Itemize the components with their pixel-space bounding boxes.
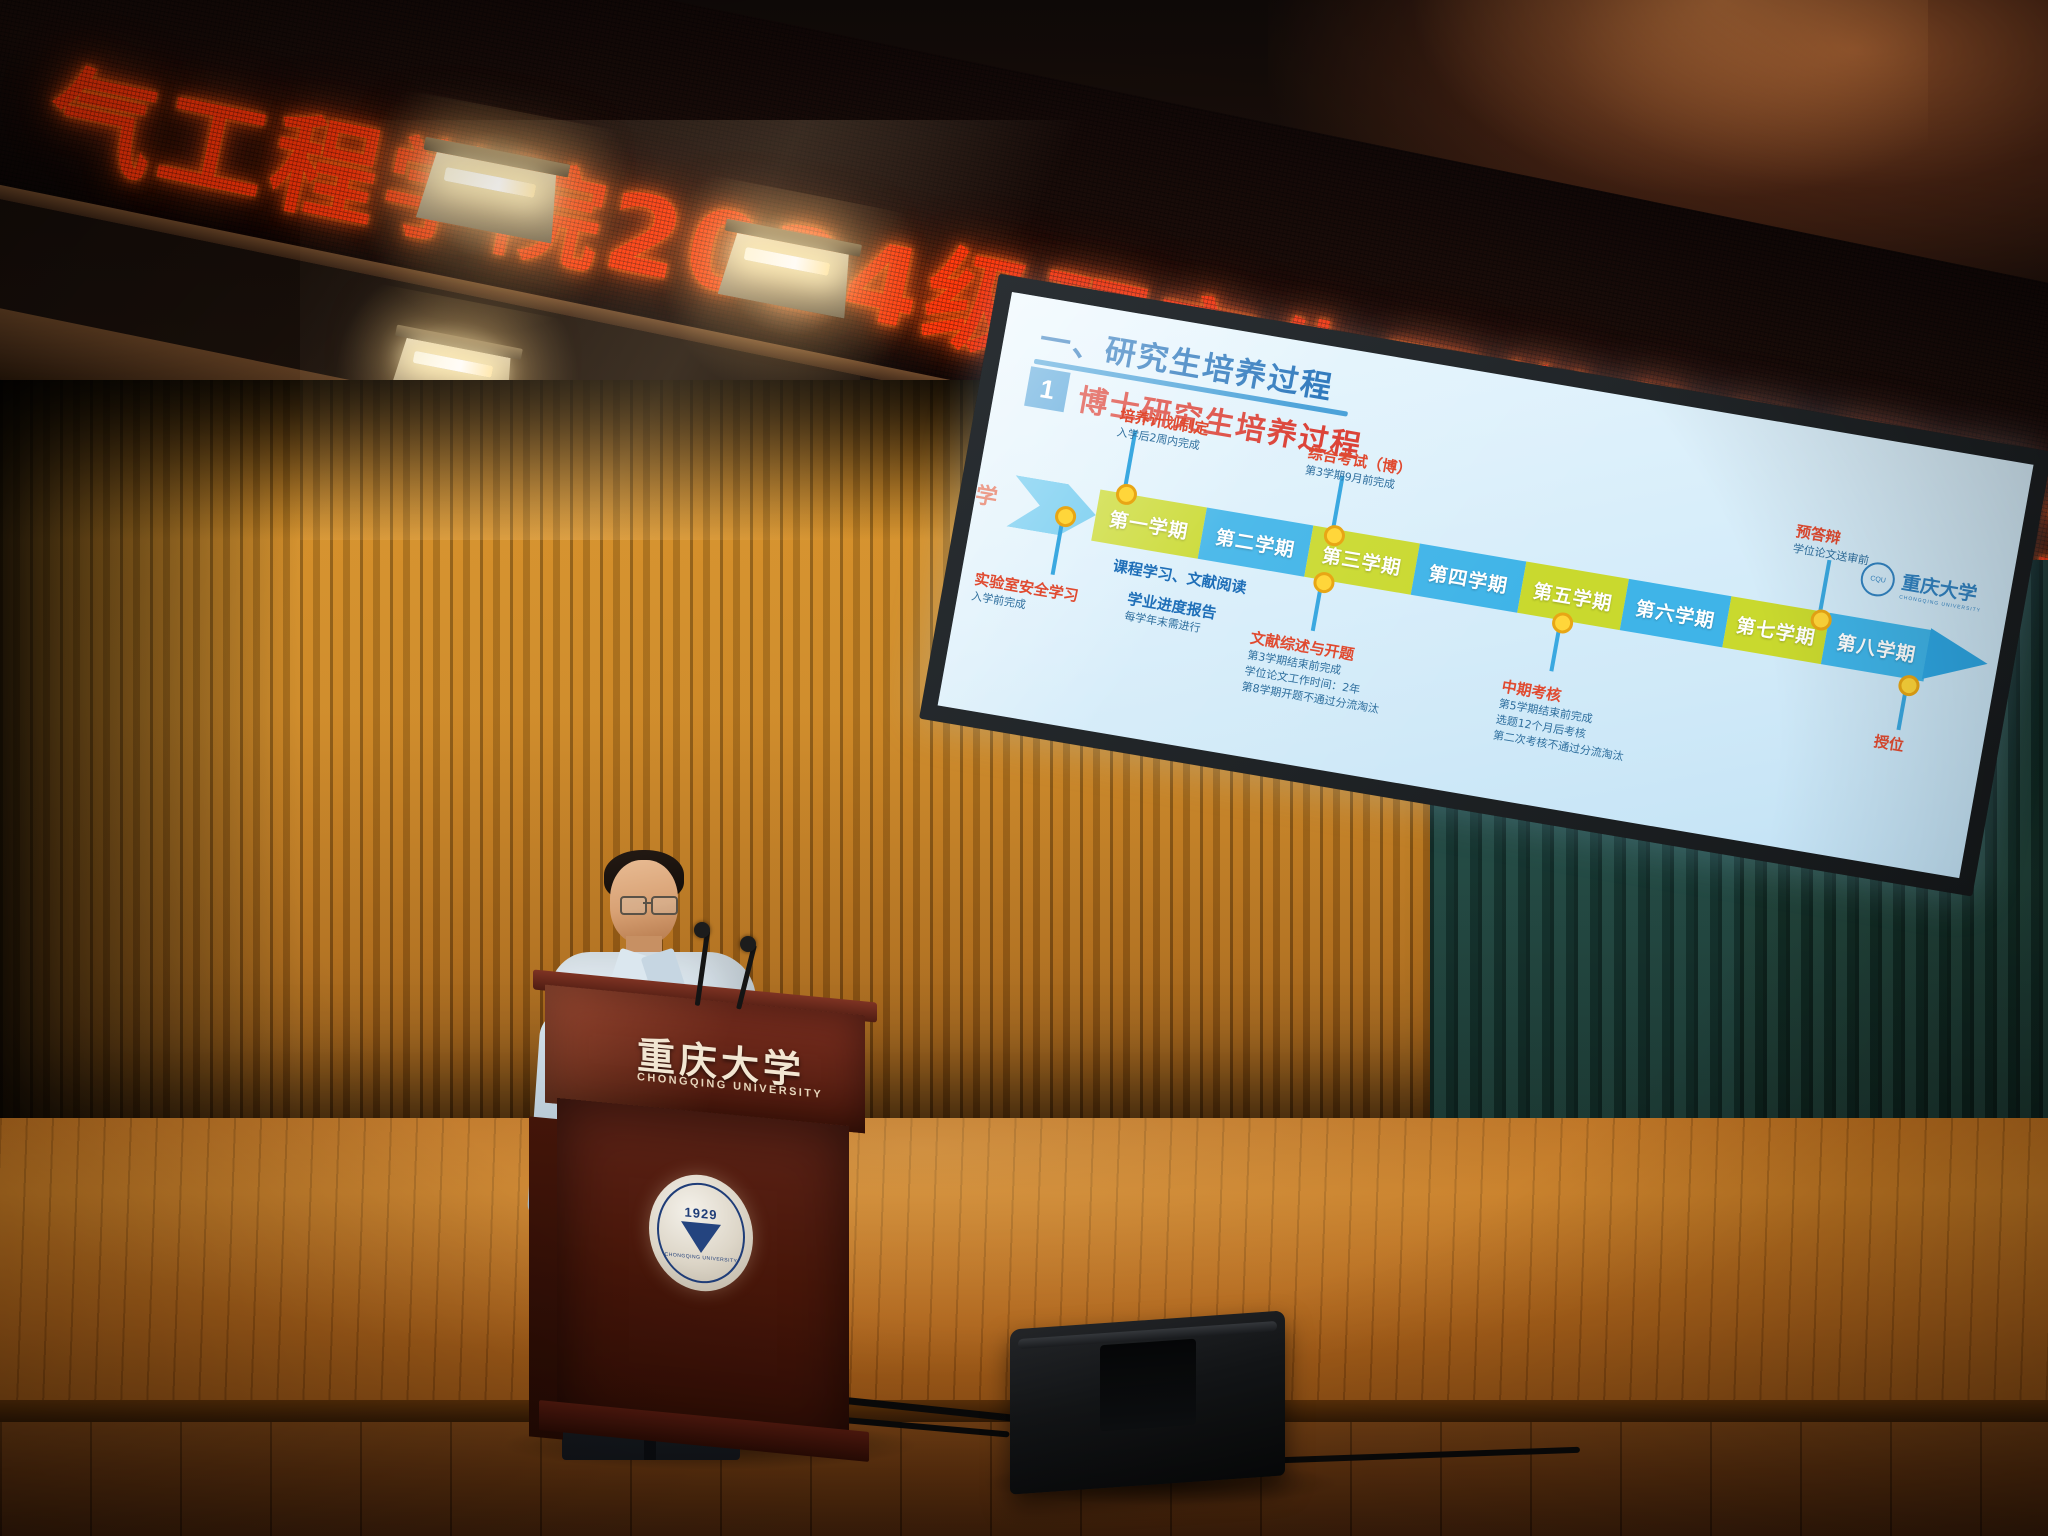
annotation-heading: 授位 <box>1872 730 1905 756</box>
glasses-lens-right <box>651 896 678 915</box>
emblem-founding-year: 1929 <box>685 1204 718 1222</box>
annotation-pre-defense: 预答辩 学位论文送审前 <box>1791 520 1873 569</box>
timeline-end-arrow-icon <box>1920 620 1993 697</box>
timeline-semester-8: 第八学期 <box>1821 613 1933 682</box>
annotation-literature-proposal: 文献综述与开题 第3学期结束前完成 学位论文工作时间：2年 第8学期开题不通过分… <box>1240 627 1389 718</box>
glasses-lens-left <box>620 896 647 915</box>
timeline-semester-2: 第二学期 <box>1198 508 1314 577</box>
annotation-degree-award: 授位 <box>1872 730 1905 756</box>
emblem-triangle-icon <box>681 1221 721 1255</box>
emblem-inner-ring: 1929 CHONGQING UNIVERSITY <box>657 1179 745 1287</box>
stage-monitor-speaker <box>1010 1310 1285 1494</box>
emblem-name-en: CHONGQING UNIVERSITY <box>665 1251 738 1264</box>
glasses-bridge <box>643 902 651 904</box>
microphone-head-icon <box>694 922 710 938</box>
auditorium-stage-scene: 气工程学院2024级研究生开学典礼暨新生开学第 一、研究生培养过 <box>0 0 2048 1536</box>
annotation-comprehensive-exam: 综合考试（博） 第3学期9月前完成 <box>1304 442 1414 496</box>
training-timeline: 入学 第一学期 第二学期 第三学期 第四学期 第五学期 第六学期 第七学期 第八… <box>1006 473 1963 688</box>
annotation-progress-report: 学业进度报告 每学年末需进行 <box>1123 588 1218 639</box>
curtain-left-shadow <box>0 380 300 1120</box>
slide-university-logo: CQU 重庆大学 CHONGQING UNIVERSITY <box>1858 560 1986 614</box>
timeline-semester-1: 第一学期 <box>1091 490 1207 559</box>
timeline-semester-7: 第七学期 <box>1722 596 1830 664</box>
timeline-semester-4: 第四学期 <box>1411 544 1527 613</box>
microphone-head-icon <box>740 936 756 952</box>
annotation-lab-safety: 实验室安全学习 入学前完成 <box>970 568 1080 622</box>
timeline-stem <box>1818 560 1832 616</box>
annotation-midterm-review: 中期考核 第5学期结束前完成 选题12个月后考核 第二次考核不通过分流淘汰 <box>1492 675 1634 765</box>
monitor-bass-port <box>1100 1339 1196 1432</box>
podium: 重庆大学 CHONGQING UNIVERSITY 1929 CHONGQING… <box>545 1000 865 1460</box>
timeline-semester-6: 第六学期 <box>1620 579 1732 648</box>
slide-badge-number: 1 <box>1024 366 1071 412</box>
glasses-icon <box>620 896 676 912</box>
timeline-entry-chevron <box>1006 475 1100 541</box>
